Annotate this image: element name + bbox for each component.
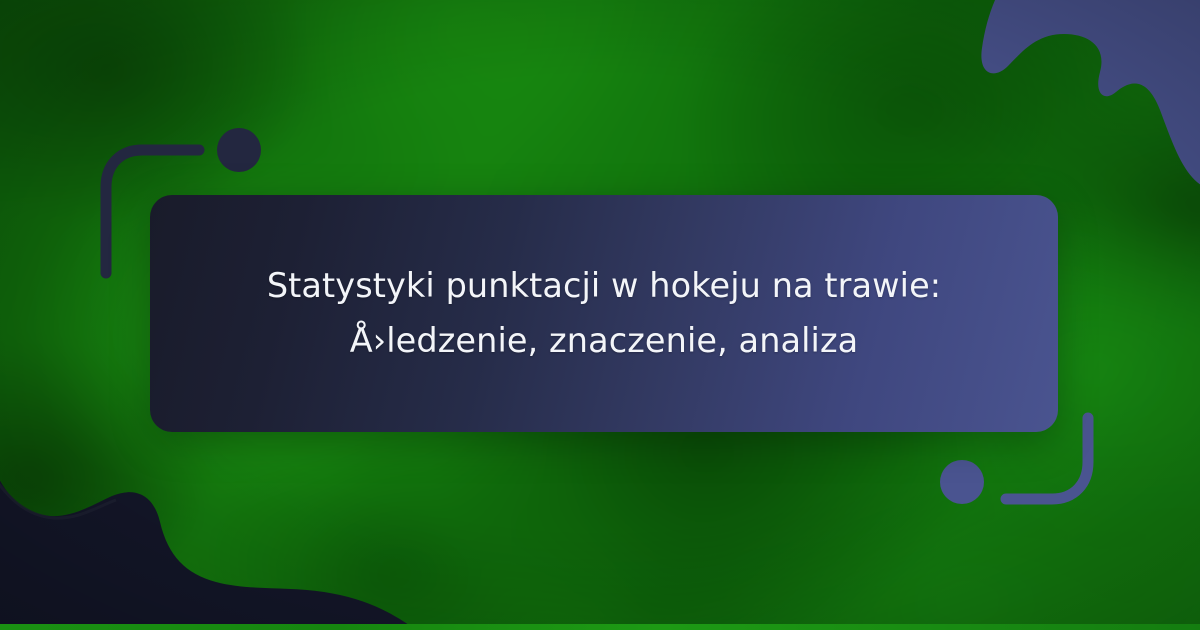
page-title: Statystyki punktacji w hokeju na trawie:… <box>204 259 1004 368</box>
title-card: Statystyki punktacji w hokeju na trawie:… <box>150 195 1058 432</box>
title-card-inner: Statystyki punktacji w hokeju na trawie:… <box>150 259 1058 368</box>
bottom-edge-strip <box>0 624 1200 630</box>
accent-dot-bottom-right <box>940 460 984 504</box>
accent-dot-top-left <box>217 128 261 172</box>
og-card-canvas: Statystyki punktacji w hokeju na trawie:… <box>0 0 1200 630</box>
corner-bracket-bottom-right <box>998 418 1118 513</box>
